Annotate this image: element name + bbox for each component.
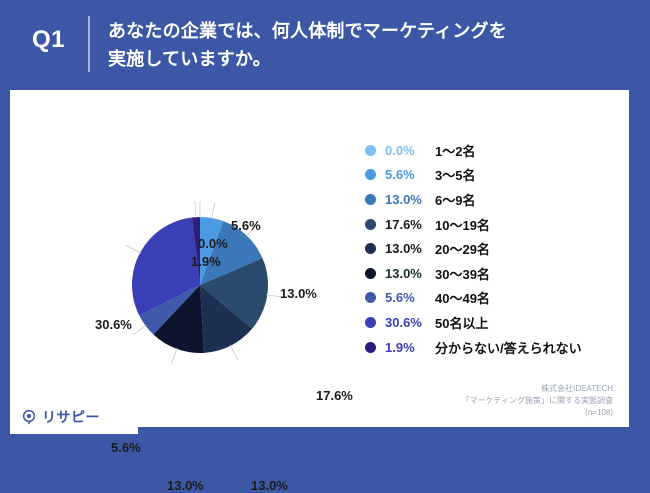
pie-slice-value-label: 5.6% xyxy=(111,440,141,455)
chart-legend: 0.0%1〜2名5.6%3〜5名13.0%6〜9名17.6%10〜19名13.0… xyxy=(365,138,620,359)
legend-color-swatch xyxy=(365,317,376,328)
content-card: 5.6%0.0%1.9%13.0%17.6%13.0%13.0%5.6%30.6… xyxy=(10,90,629,427)
question-title-line2: 実施していますか。 xyxy=(108,45,618,73)
pie-slice-value-label: 5.6% xyxy=(231,218,261,233)
brand-logo-text: リサピー xyxy=(42,407,100,427)
legend-label: 分からない/答えられない xyxy=(435,338,582,357)
slide-header: Q1 あなたの企業では、何人体制でマーケティングを 実施していますか。 xyxy=(0,0,650,88)
legend-item[interactable]: 13.0%30〜39名 xyxy=(365,261,620,286)
legend-item[interactable]: 17.6%10〜19名 xyxy=(365,212,620,237)
legend-label: 30〜39名 xyxy=(435,264,490,283)
legend-item[interactable]: 13.0%6〜9名 xyxy=(365,187,620,212)
legend-label: 50名以上 xyxy=(435,313,488,332)
header-divider xyxy=(88,16,90,72)
slide-root: Q1 あなたの企業では、何人体制でマーケティングを 実施していますか。 5.6%… xyxy=(0,0,650,434)
legend-item[interactable]: 5.6%40〜49名 xyxy=(365,286,620,311)
legend-color-swatch xyxy=(365,292,376,303)
legend-percent: 17.6% xyxy=(385,217,435,232)
legend-color-swatch xyxy=(365,243,376,254)
legend-color-swatch xyxy=(365,194,376,205)
legend-percent: 5.6% xyxy=(385,167,435,182)
legend-label: 10〜19名 xyxy=(435,215,490,234)
question-number: Q1 xyxy=(32,26,65,54)
pie-slice-value-label: 1.9% xyxy=(191,254,221,269)
legend-item[interactable]: 13.0%20〜29名 xyxy=(365,236,620,261)
legend-percent: 0.0% xyxy=(385,143,435,158)
credit-company: 株式会社IDEATECH xyxy=(462,383,613,395)
legend-item[interactable]: 0.0%1〜2名 xyxy=(365,138,620,163)
pie-leader-line xyxy=(230,345,238,360)
legend-label: 3〜5名 xyxy=(435,165,475,184)
pie-slice-value-label: 0.0% xyxy=(198,236,228,251)
legend-percent: 5.6% xyxy=(385,290,435,305)
legend-label: 6〜9名 xyxy=(435,190,475,209)
pie-slice-value-label: 30.6% xyxy=(95,317,132,332)
credit-sample-size: (n=108) xyxy=(462,407,613,419)
legend-label: 1〜2名 xyxy=(435,141,475,160)
pie-slice-value-label: 13.0% xyxy=(280,286,317,301)
legend-label: 40〜49名 xyxy=(435,288,490,307)
credit-survey: 「マーケティング施策」に関する実態調査 xyxy=(462,395,613,407)
legend-color-swatch xyxy=(365,219,376,230)
pie-leader-line xyxy=(195,201,196,218)
legend-percent: 13.0% xyxy=(385,241,435,256)
legend-color-swatch xyxy=(365,342,376,353)
brand-logo[interactable]: リサピー xyxy=(10,400,138,434)
question-title: あなたの企業では、何人体制でマーケティングを 実施していますか。 xyxy=(108,17,618,73)
pie-chart-svg xyxy=(40,110,340,400)
legend-item[interactable]: 5.6%3〜5名 xyxy=(365,163,620,188)
legend-item[interactable]: 30.6%50名以上 xyxy=(365,310,620,335)
pie-leader-line xyxy=(126,245,141,253)
pie-leader-line xyxy=(171,348,177,364)
legend-item[interactable]: 1.9%分からない/答えられない xyxy=(365,335,620,360)
legend-color-swatch xyxy=(365,268,376,279)
pie-chart: 5.6%0.0%1.9%13.0%17.6%13.0%13.0%5.6%30.6… xyxy=(40,110,340,400)
legend-label: 20〜29名 xyxy=(435,239,490,258)
legend-color-swatch xyxy=(365,169,376,180)
pie-leader-line xyxy=(133,325,147,335)
pie-slice-value-label: 17.6% xyxy=(316,388,353,403)
legend-percent: 13.0% xyxy=(385,266,435,281)
pie-leader-line xyxy=(212,202,215,219)
magnifier-pin-icon xyxy=(21,409,37,425)
pie-slice-value-label: 13.0% xyxy=(251,478,288,493)
legend-percent: 13.0% xyxy=(385,192,435,207)
question-title-line1: あなたの企業では、何人体制でマーケティングを xyxy=(108,17,618,45)
pie-slice-value-label: 13.0% xyxy=(167,478,204,493)
legend-percent: 1.9% xyxy=(385,340,435,355)
source-credits: 株式会社IDEATECH 「マーケティング施策」に関する実態調査 (n=108) xyxy=(462,383,613,419)
legend-percent: 30.6% xyxy=(385,315,435,330)
legend-color-swatch xyxy=(365,145,376,156)
